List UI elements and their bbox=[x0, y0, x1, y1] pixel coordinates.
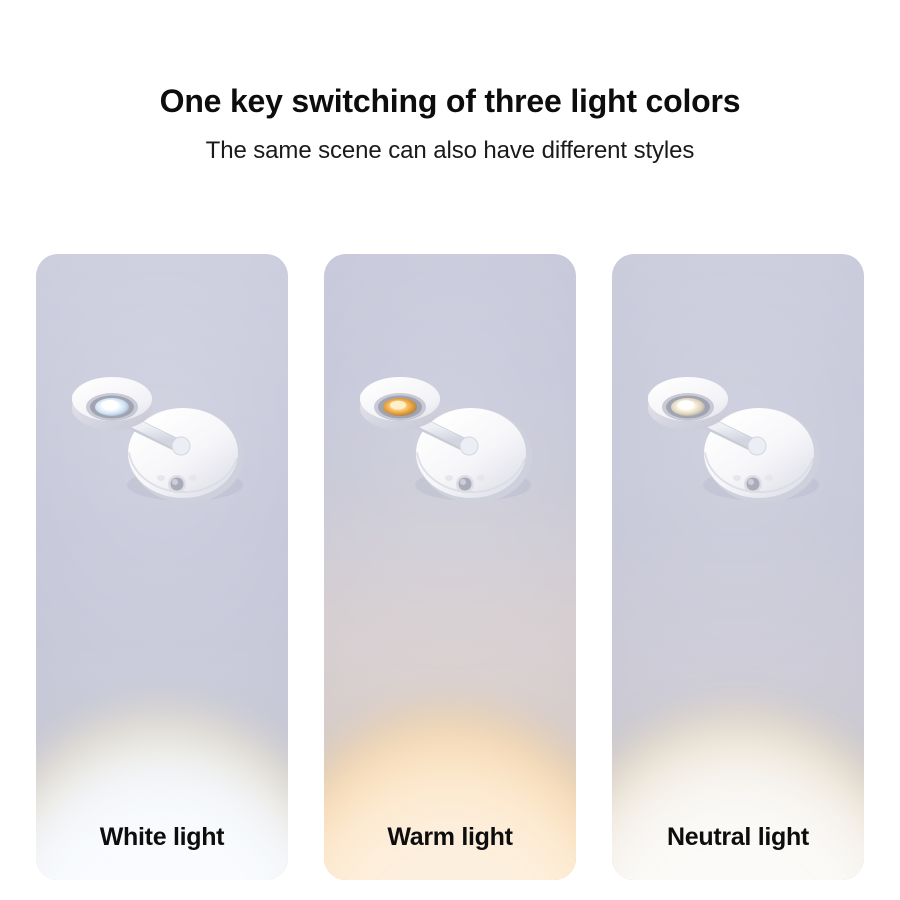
wall-background-white bbox=[36, 254, 288, 880]
panel-caption-warm: Warm light bbox=[324, 823, 576, 852]
wall-lamp-white[interactable] bbox=[67, 360, 257, 510]
light-mode-panel-row: White light bbox=[36, 254, 864, 880]
wall-background-warm bbox=[324, 254, 576, 880]
wall-lamp-neutral[interactable] bbox=[643, 360, 833, 510]
panel-white-light[interactable]: White light bbox=[36, 254, 288, 880]
lamp-head-disc bbox=[360, 377, 440, 430]
wall-lamp-warm[interactable] bbox=[355, 360, 545, 510]
panel-caption-white: White light bbox=[36, 823, 288, 852]
page-subtitle: The same scene can also have different s… bbox=[0, 120, 900, 165]
header: One key switching of three light colors … bbox=[0, 0, 900, 165]
lamp-head-disc bbox=[648, 377, 728, 430]
wall-background-neutral bbox=[612, 254, 864, 880]
panel-neutral-light[interactable]: Neutral light bbox=[612, 254, 864, 880]
panel-caption-neutral: Neutral light bbox=[612, 823, 864, 852]
panel-warm-light[interactable]: Warm light bbox=[324, 254, 576, 880]
page-title: One key switching of three light colors bbox=[0, 0, 900, 120]
lamp-head-disc bbox=[72, 377, 152, 430]
